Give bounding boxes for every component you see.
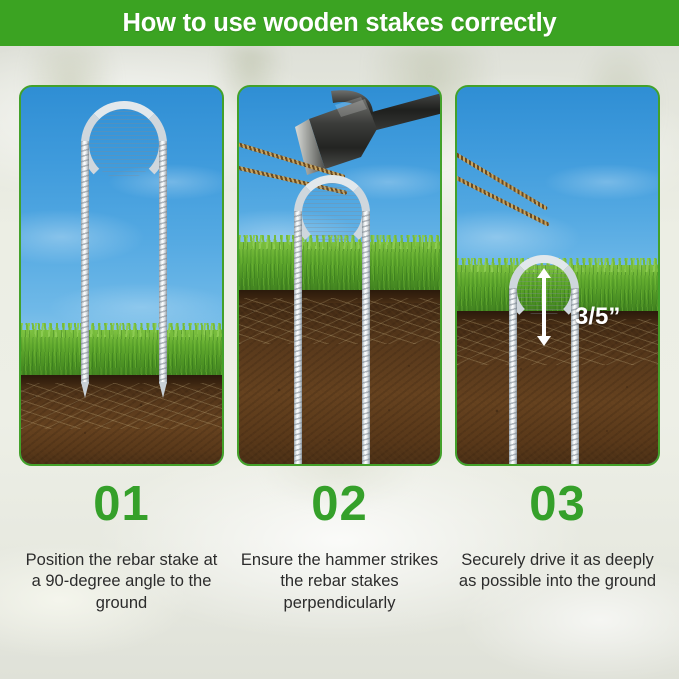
step-caption: Position the rebar stake at a 90-degree … bbox=[19, 550, 224, 614]
step-number: 01 bbox=[19, 480, 224, 529]
step-caption: Ensure the hammer strikes the rebar stak… bbox=[237, 550, 442, 614]
step-number: 02 bbox=[237, 480, 442, 529]
stake-leg-left bbox=[509, 288, 517, 465]
step-item-01: 01 Position the rebar stake at a 90-degr… bbox=[19, 480, 224, 614]
illustration-panel-02 bbox=[237, 85, 442, 466]
measurement-arrow bbox=[542, 277, 546, 337]
infographic-page: How to use wooden stakes correctly bbox=[0, 0, 679, 679]
stake-tip-left bbox=[81, 382, 89, 398]
panels-row: 3/5” bbox=[19, 85, 660, 466]
step-item-02: 02 Ensure the hammer strikes the rebar s… bbox=[237, 480, 442, 614]
root-texture bbox=[21, 383, 222, 429]
stake-leg-left bbox=[294, 211, 302, 465]
rebar-stake bbox=[81, 101, 167, 386]
step-item-03: 03 Securely drive it as deeply as possib… bbox=[455, 480, 660, 614]
steps-row: 01 Position the rebar stake at a 90-degr… bbox=[19, 480, 660, 614]
stake-tip-right bbox=[159, 382, 167, 398]
header-banner: How to use wooden stakes correctly bbox=[0, 0, 679, 46]
stake-leg-right bbox=[159, 141, 167, 384]
soil-layer bbox=[21, 375, 222, 464]
illustration-panel-01 bbox=[19, 85, 224, 466]
stake-leg-left bbox=[81, 141, 89, 384]
step-number: 03 bbox=[455, 480, 660, 529]
page-title: How to use wooden stakes correctly bbox=[123, 9, 557, 38]
stake-bend bbox=[294, 175, 370, 251]
rebar-stake bbox=[294, 175, 370, 465]
illustration-panel-03: 3/5” bbox=[455, 85, 660, 466]
measurement-label: 3/5” bbox=[575, 303, 620, 331]
stake-leg-right bbox=[362, 211, 370, 465]
step-caption: Securely drive it as deeply as possible … bbox=[455, 550, 660, 593]
stake-bend bbox=[81, 101, 167, 187]
